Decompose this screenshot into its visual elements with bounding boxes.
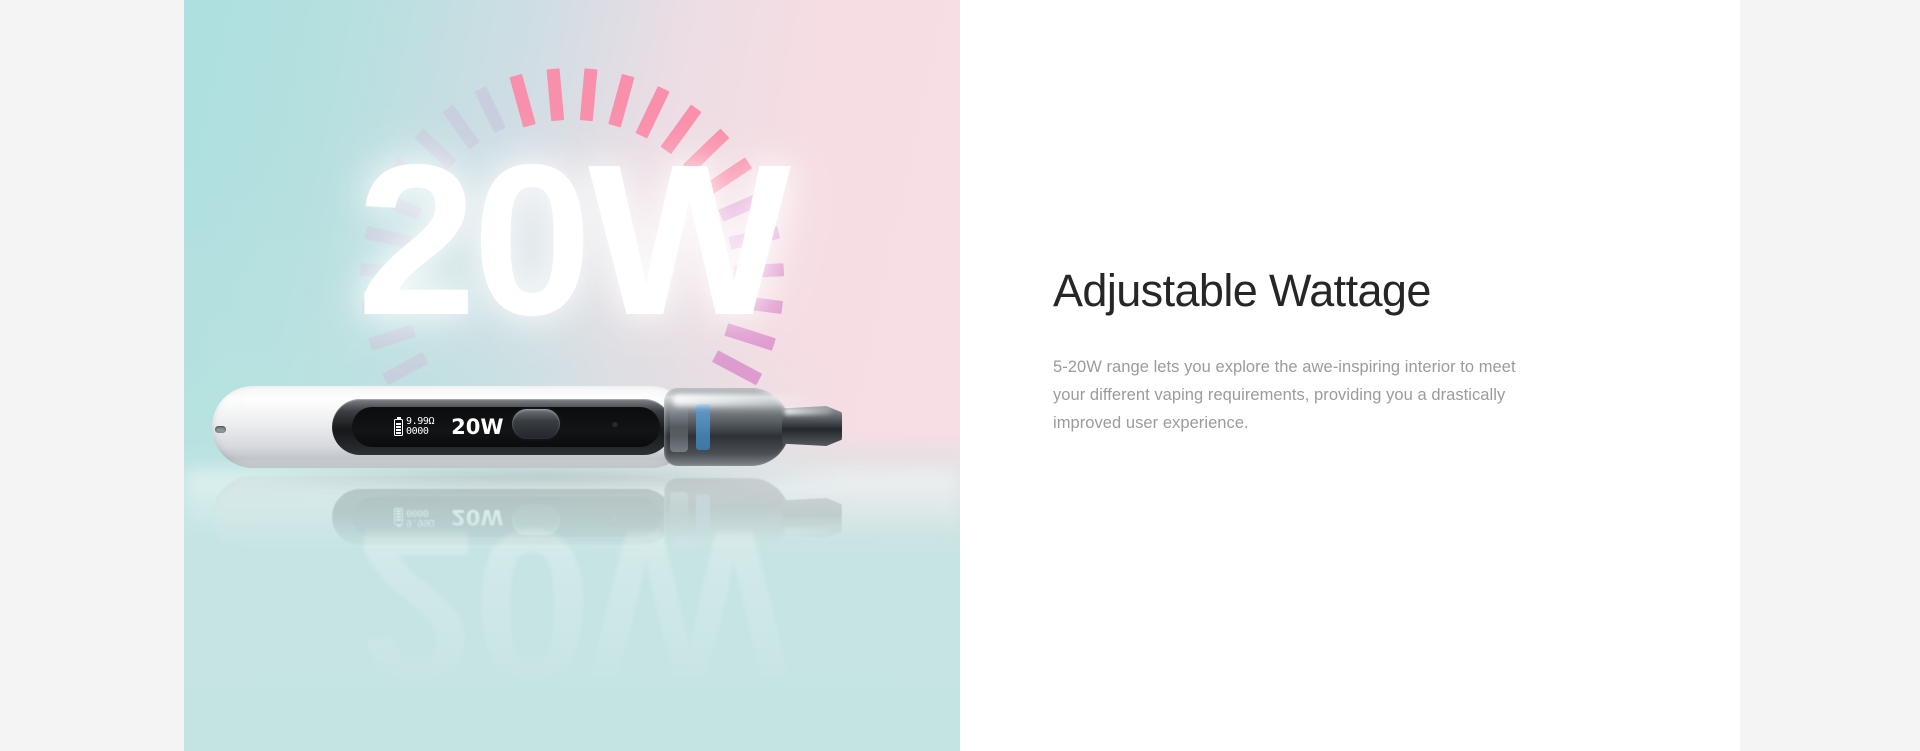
battery-full-icon-reflection [394,509,403,526]
pod-gloss [672,394,822,406]
device-battery-group: 9.99Ω 0000 [394,417,434,437]
device-wattage-reflection: 20W [451,505,503,529]
device-airhole-reflection [612,517,618,523]
product-hero-image: 20W 20W [184,0,960,751]
pod-mouthpiece-highlight [784,408,832,415]
feature-text-block: Adjustable Wattage 5-20W range lets you … [1053,265,1553,437]
device-oled-screen: 9.99Ω 0000 20W [352,407,660,447]
device-reflection: 9.99Ω 0000 20W [212,476,842,558]
content-sheet: 20W 20W [184,0,1740,751]
device-resistance-sub-value: 0000 [406,427,434,437]
page-title: Adjustable Wattage [1053,265,1553,317]
battery-full-icon [394,419,403,436]
device-airhole [612,421,618,427]
feature-text-panel: Adjustable Wattage 5-20W range lets you … [960,0,1740,751]
device-fire-button-reflection [512,505,560,535]
pod-coil-accent [696,404,710,450]
device-charge-port [215,426,226,433]
page-root: 20W 20W [0,0,1920,751]
device-screen-bezel: 9.99Ω 0000 20W [332,399,672,455]
pod-ring [670,402,688,452]
feature-description: 5-20W range lets you explore the awe-ins… [1053,353,1525,437]
vape-device: 9.99Ω 0000 20W [212,386,842,468]
device-wattage-value: 20W [451,415,503,439]
device-pod [664,388,842,466]
device-fire-button [512,409,560,439]
device-stage: 9.99Ω 0000 20W [184,0,960,751]
device-pod-reflection [664,478,842,556]
device-resistance-sub-reflection: 0000 [406,507,434,517]
device-resistance-reflection: 9.99Ω [406,517,434,527]
device-screen-bezel-reflection: 9.99Ω 0000 20W [332,489,672,545]
